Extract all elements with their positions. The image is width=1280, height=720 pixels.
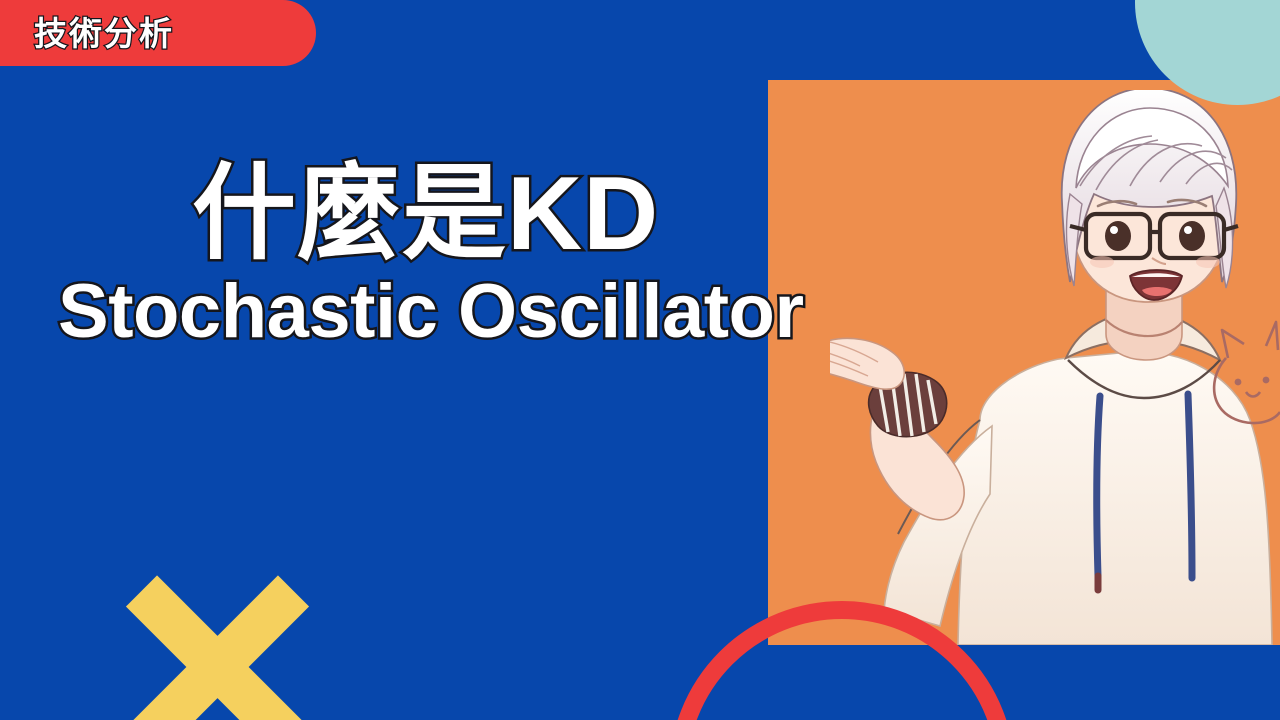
character-illustration bbox=[830, 90, 1280, 645]
category-badge: 技術分析 bbox=[0, 0, 316, 66]
yellow-x-decoration bbox=[128, 578, 306, 720]
thumbnail-canvas: 什麼是KD Stochastic Oscillator 技術分析 bbox=[0, 0, 1280, 720]
category-badge-label: 技術分析 bbox=[34, 17, 174, 50]
